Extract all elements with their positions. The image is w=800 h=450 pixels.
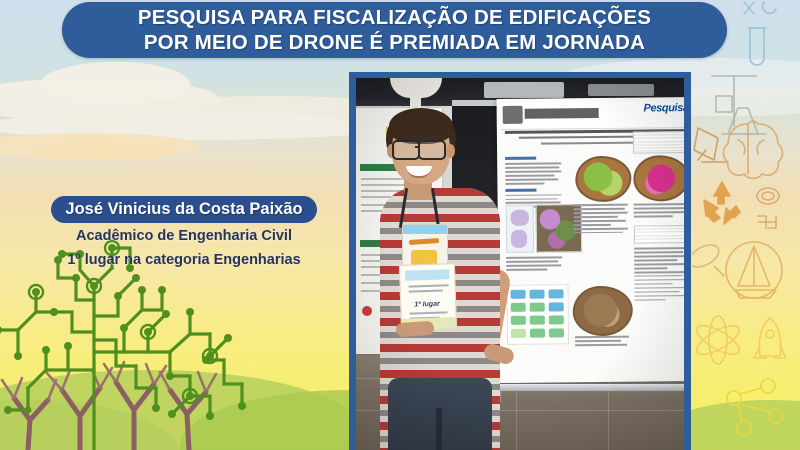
atom-icon xyxy=(693,316,744,364)
award-caption: José Vinicius da Costa Paixão Acadêmico … xyxy=(44,196,324,271)
title-line-1: PESQUISA PARA FISCALIZAÇÃO DE EDIFICAÇÕE… xyxy=(138,5,651,30)
microscope-icon xyxy=(694,128,726,162)
eyeglasses-lens xyxy=(392,140,420,160)
poster-map-pink xyxy=(633,155,684,202)
rollup-banner-stand xyxy=(490,384,684,391)
h2o-icon xyxy=(757,188,779,228)
title-banner: PESQUISA PARA FISCALIZAÇÃO DE EDIFICAÇÕE… xyxy=(62,2,727,58)
pants-seam xyxy=(436,408,442,450)
rocket-icon xyxy=(754,318,786,358)
award-photo: Pesquisa xyxy=(356,78,684,450)
eyeglasses-lens xyxy=(418,140,446,160)
magnifier-icon xyxy=(692,241,724,276)
certificate-rank-text: 1º lugar xyxy=(414,301,440,309)
recycle-icon xyxy=(704,182,740,224)
poster-flowchart xyxy=(506,284,569,345)
poster-column xyxy=(575,336,629,349)
award-placement: 1º lugar na categoria Engenharias xyxy=(44,250,324,271)
science-doodles-strip xyxy=(692,0,800,450)
test-tube-icon xyxy=(744,2,776,65)
poster-stage: PESQUISA PARA FISCALIZAÇÃO DE EDIFICAÇÕE… xyxy=(0,0,800,450)
person-hand xyxy=(396,321,435,338)
brain-icon xyxy=(724,121,783,179)
sailboat-globe-icon xyxy=(726,242,782,298)
eyeglasses-bridge xyxy=(415,146,420,148)
poster-table xyxy=(634,225,684,244)
poster-column xyxy=(506,256,562,273)
poster-column xyxy=(634,203,684,220)
person-hair xyxy=(389,108,453,144)
poster-table xyxy=(633,131,684,154)
poster-column xyxy=(505,152,562,210)
poster-brand-label: Pesquisa xyxy=(643,102,684,114)
university-name xyxy=(525,108,599,119)
photo-frame: Pesquisa xyxy=(349,72,691,450)
poster-brand-text: Pesquisa xyxy=(643,102,684,114)
university-logo xyxy=(503,106,523,124)
student-role: Acadêmico de Engenharia Civil xyxy=(44,226,324,247)
poster-map-brown xyxy=(572,286,633,337)
poster-diagram xyxy=(506,205,535,253)
research-poster: Pesquisa xyxy=(497,97,684,383)
molecule-icon xyxy=(727,379,783,435)
poster-map-green xyxy=(575,156,631,203)
cloud-shape xyxy=(30,142,180,160)
poster-column xyxy=(574,204,628,236)
poster-column xyxy=(634,247,684,303)
student-name-badge: José Vinicius da Costa Paixão xyxy=(51,196,316,223)
title-line-2: POR MEIO DE DRONE É PREMIADA EM JORNADA xyxy=(144,30,645,55)
ceiling-light xyxy=(588,84,654,96)
ceiling-light xyxy=(484,82,564,98)
person-ear xyxy=(446,144,455,158)
